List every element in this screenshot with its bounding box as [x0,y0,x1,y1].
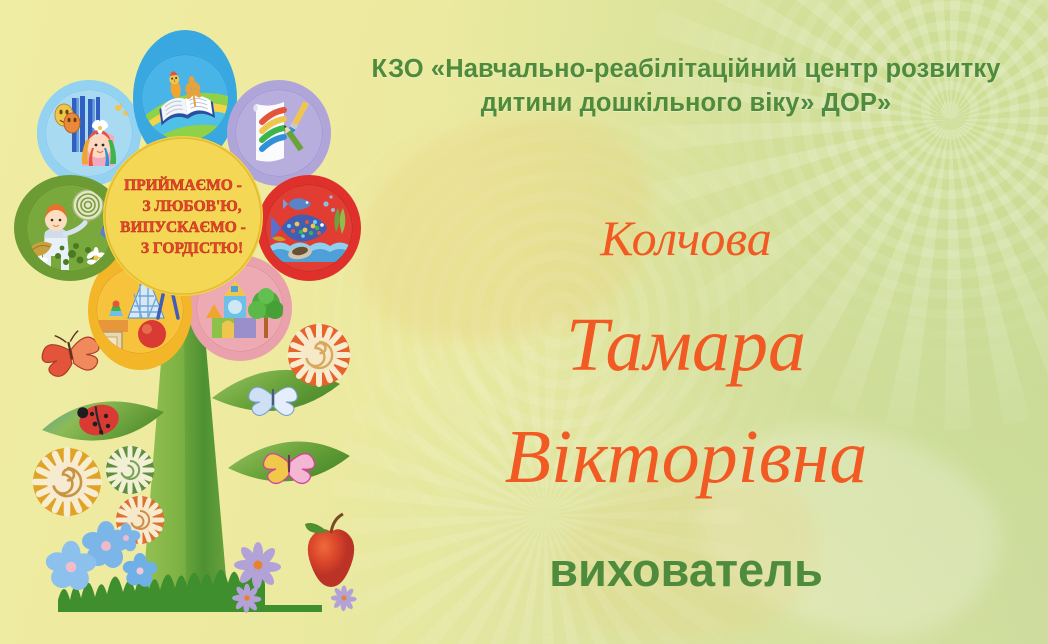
slogan-line-3: ВИПУСКАЄМО - [120,219,246,236]
slogan-line-1: ПРИЙМАЄМО - [124,177,242,194]
spiral-sun-gold-large [33,448,101,516]
butterfly-blue [249,387,298,415]
business-card: ПРИЙМАЄМО - З ЛЮБОВ'Ю, ВИПУСКАЄМО - З ГО… [0,0,1048,644]
person-firstname: Тамара [330,303,1042,387]
institution-title: КЗО «Навчально-реабілітаційний центр роз… [330,52,1042,120]
kindergarten-emblem-tree: ПРИЙМАЄМО - З ЛЮБОВ'Ю, ВИПУСКАЄМО - З ГО… [0,0,370,644]
slogan-line-4: З ГОРДІСТЮ! [141,240,243,257]
spiral-sun-green [106,446,154,494]
slogan-line-2: З ЛЮБОВ'Ю, [142,198,241,215]
emblem-center: ПРИЙМАЄМО - З ЛЮБОВ'Ю, ВИПУСКАЄМО - З ГО… [103,136,263,296]
tree-leaf-left [42,401,164,441]
person-surname: Колчова [330,210,1042,266]
person-role: вихователь [330,542,1042,598]
person-patronymic: Вікторівна [330,415,1042,499]
